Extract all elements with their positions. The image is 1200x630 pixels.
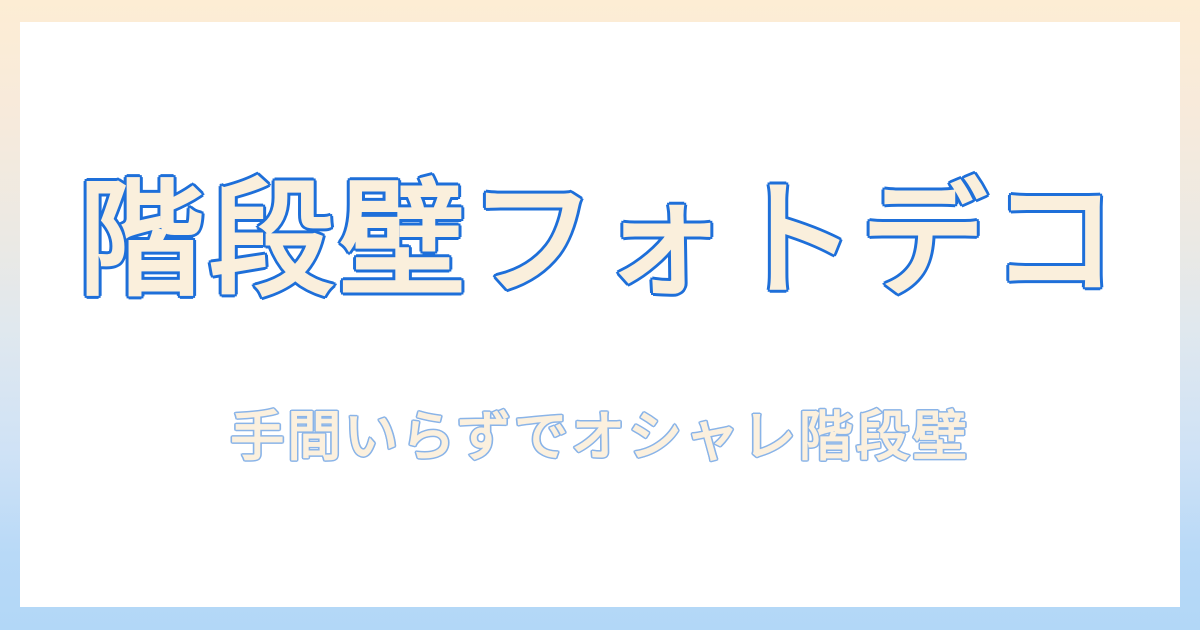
content-card: 階段壁フォトデコ 手間いらずでオシャレ階段壁	[20, 22, 1180, 607]
page-subtitle: 手間いらずでオシャレ階段壁	[230, 405, 970, 470]
page-title: 階段壁フォトデコ	[78, 170, 1121, 311]
gradient-frame: 階段壁フォトデコ 手間いらずでオシャレ階段壁	[0, 0, 1200, 630]
title-container: 階段壁フォトデコ	[20, 170, 1180, 311]
subtitle-container: 手間いらずでオシャレ階段壁	[20, 405, 1180, 470]
